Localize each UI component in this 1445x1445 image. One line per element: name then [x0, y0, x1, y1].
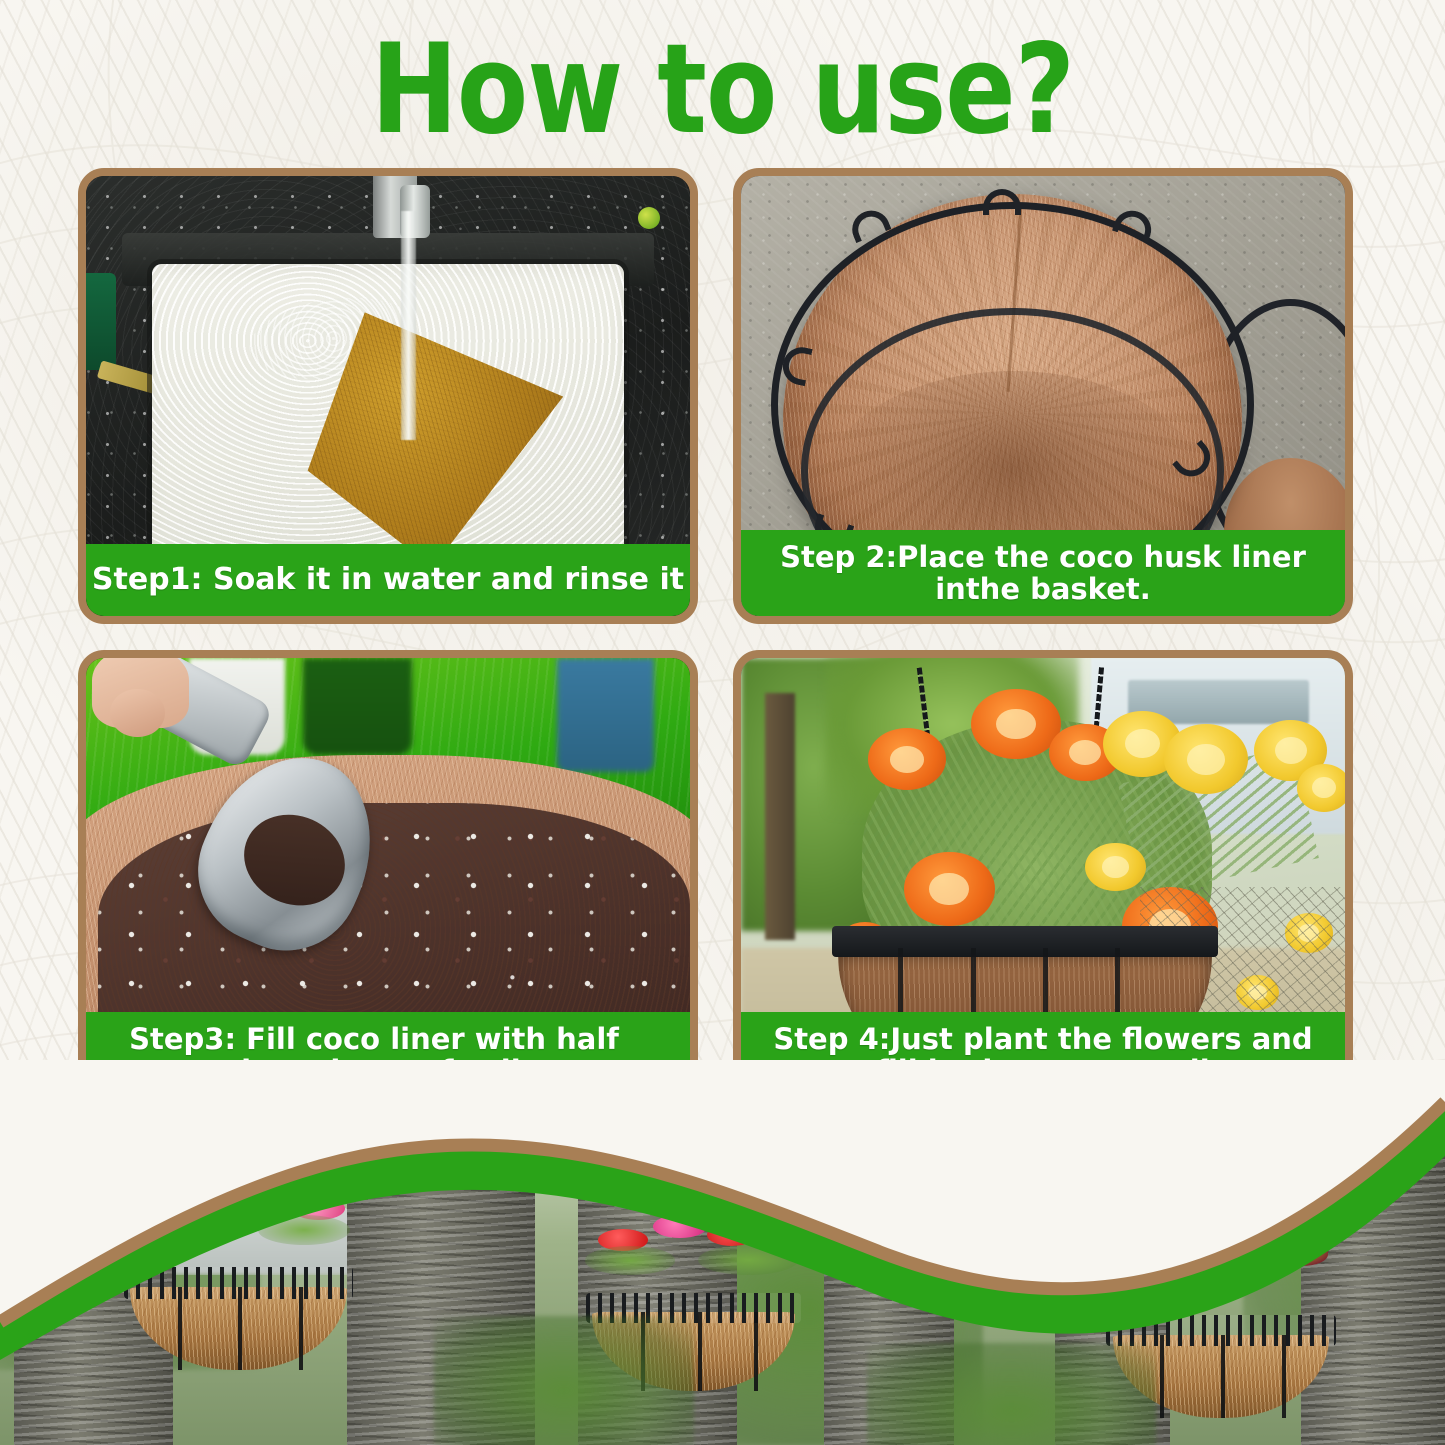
red-flower	[707, 1224, 757, 1246]
step-2-caption: Step 2:Place the coco husk liner inthe b…	[741, 530, 1345, 616]
step-card-4: Step 4:Just plant the flowers and fill i…	[733, 650, 1353, 1106]
green-leaves	[698, 1245, 798, 1275]
basket-rib	[698, 1312, 702, 1391]
yellow-petunia-bloom	[1085, 843, 1145, 891]
step-1-caption: Step1: Soak it in water and rinse it	[86, 544, 690, 616]
garden-scene	[0, 1105, 1445, 1445]
step-card-3: Step3: Fill coco liner with half the vol…	[78, 650, 698, 1106]
yellow-petunia-bloom	[1297, 764, 1345, 812]
background-pot	[303, 658, 412, 755]
magenta-flower	[1158, 1233, 1216, 1258]
basket-rib	[1160, 1335, 1164, 1418]
step-4-caption: Step 4:Just plant the flowers and fill i…	[741, 1012, 1345, 1098]
basket-rib	[178, 1287, 182, 1370]
page-title: How to use?	[51, 28, 1395, 152]
green-leaves	[585, 1246, 676, 1274]
green-leaves	[117, 1219, 200, 1247]
step-card-2: Step 2:Place the coco husk liner inthe b…	[733, 168, 1353, 624]
basket-metal-rim	[832, 926, 1219, 957]
understory-foliage	[867, 1343, 1156, 1445]
pink-flower	[180, 1187, 233, 1210]
basket-rib	[1282, 1335, 1286, 1418]
flower-cluster	[117, 1167, 360, 1250]
basket-rib	[238, 1287, 242, 1370]
orange-petunia-bloom	[868, 728, 947, 790]
hanging-basket-left	[130, 1227, 347, 1370]
orange-petunia-bloom	[904, 852, 995, 927]
green-leaves	[1100, 1266, 1197, 1296]
coleus-leaf	[1265, 1238, 1328, 1266]
basket-rib	[1221, 1335, 1225, 1418]
produce-sticker	[638, 207, 660, 229]
bottom-banner-photo	[0, 1105, 1445, 1445]
background-blue-object	[557, 658, 654, 772]
tree-trunk	[765, 693, 795, 939]
understory-foliage	[434, 1316, 694, 1445]
water-stream	[401, 211, 416, 440]
orange-petunia-bloom	[971, 689, 1062, 759]
basket-rib	[299, 1287, 303, 1370]
flower-cluster	[1100, 1215, 1343, 1298]
flower-cluster	[580, 1197, 807, 1276]
green-leaves	[258, 1215, 350, 1245]
hand-finger	[110, 689, 164, 737]
step-3-caption: Step3: Fill coco liner with half the vol…	[86, 1012, 690, 1098]
magenta-flower	[238, 1182, 296, 1207]
basket-rib	[754, 1312, 758, 1391]
sink-side-object	[86, 273, 116, 370]
wire-hook	[983, 189, 1021, 215]
magenta-flower	[653, 1215, 707, 1239]
step-card-1: Step1: Soak it in water and rinse it	[78, 168, 698, 624]
